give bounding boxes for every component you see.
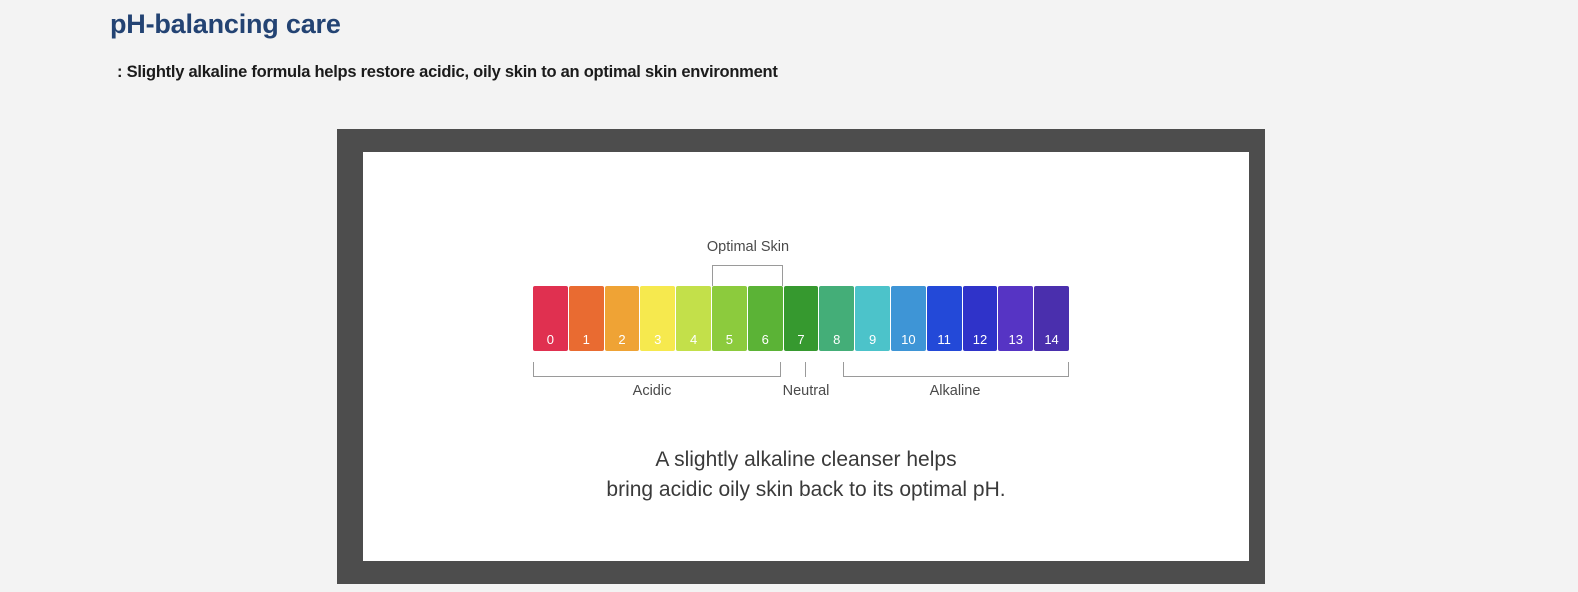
ph-cell-label: 11 (927, 333, 962, 346)
ph-cell-8: 8 (819, 286, 854, 351)
ph-cell-13: 13 (998, 286, 1033, 351)
ph-scale-strip: 01234567891011121314 (533, 286, 1069, 351)
ph-cell-12: 12 (963, 286, 998, 351)
acidic-range-bracket (533, 362, 781, 377)
ph-cell-label: 12 (963, 333, 998, 346)
ph-cell-11: 11 (927, 286, 962, 351)
ph-cell-3: 3 (640, 286, 675, 351)
alkaline-range-bracket (843, 362, 1069, 377)
ph-cell-label: 1 (569, 333, 604, 346)
ph-cell-label: 8 (819, 333, 854, 346)
ph-cell-label: 6 (748, 333, 783, 346)
ph-cell-label: 10 (891, 333, 926, 346)
page-title: pH-balancing care (110, 9, 341, 40)
ph-cell-label: 9 (855, 333, 890, 346)
ph-cell-2: 2 (605, 286, 640, 351)
ph-cell-0: 0 (533, 286, 568, 351)
ph-cell-label: 7 (784, 333, 819, 346)
caption-line: A slightly alkaline cleanser helps (363, 445, 1249, 475)
neutral-range-tick (805, 362, 806, 377)
figure-frame (337, 129, 1265, 584)
ph-cell-label: 0 (533, 333, 568, 346)
figure-caption: A slightly alkaline cleanser helps bring… (363, 445, 1249, 505)
ph-cell-7: 7 (784, 286, 819, 351)
ph-cell-1: 1 (569, 286, 604, 351)
optimal-skin-bracket (712, 265, 783, 286)
ph-cell-9: 9 (855, 286, 890, 351)
acidic-range-label: Acidic (577, 383, 727, 399)
ph-cell-14: 14 (1034, 286, 1069, 351)
alkaline-range-label: Alkaline (880, 383, 1030, 399)
neutral-range-label: Neutral (742, 383, 870, 399)
ph-cell-label: 4 (676, 333, 711, 346)
ph-cell-label: 3 (640, 333, 675, 346)
optimal-skin-label: Optimal Skin (700, 239, 796, 255)
ph-cell-4: 4 (676, 286, 711, 351)
ph-cell-label: 2 (605, 333, 640, 346)
ph-cell-10: 10 (891, 286, 926, 351)
caption-line: bring acidic oily skin back to its optim… (363, 475, 1249, 505)
ph-cell-label: 13 (998, 333, 1033, 346)
ph-cell-5: 5 (712, 286, 747, 351)
ph-cell-6: 6 (748, 286, 783, 351)
ph-cell-label: 14 (1034, 333, 1069, 346)
ph-cell-label: 5 (712, 333, 747, 346)
page-subtitle: : Slightly alkaline formula helps restor… (117, 63, 778, 82)
